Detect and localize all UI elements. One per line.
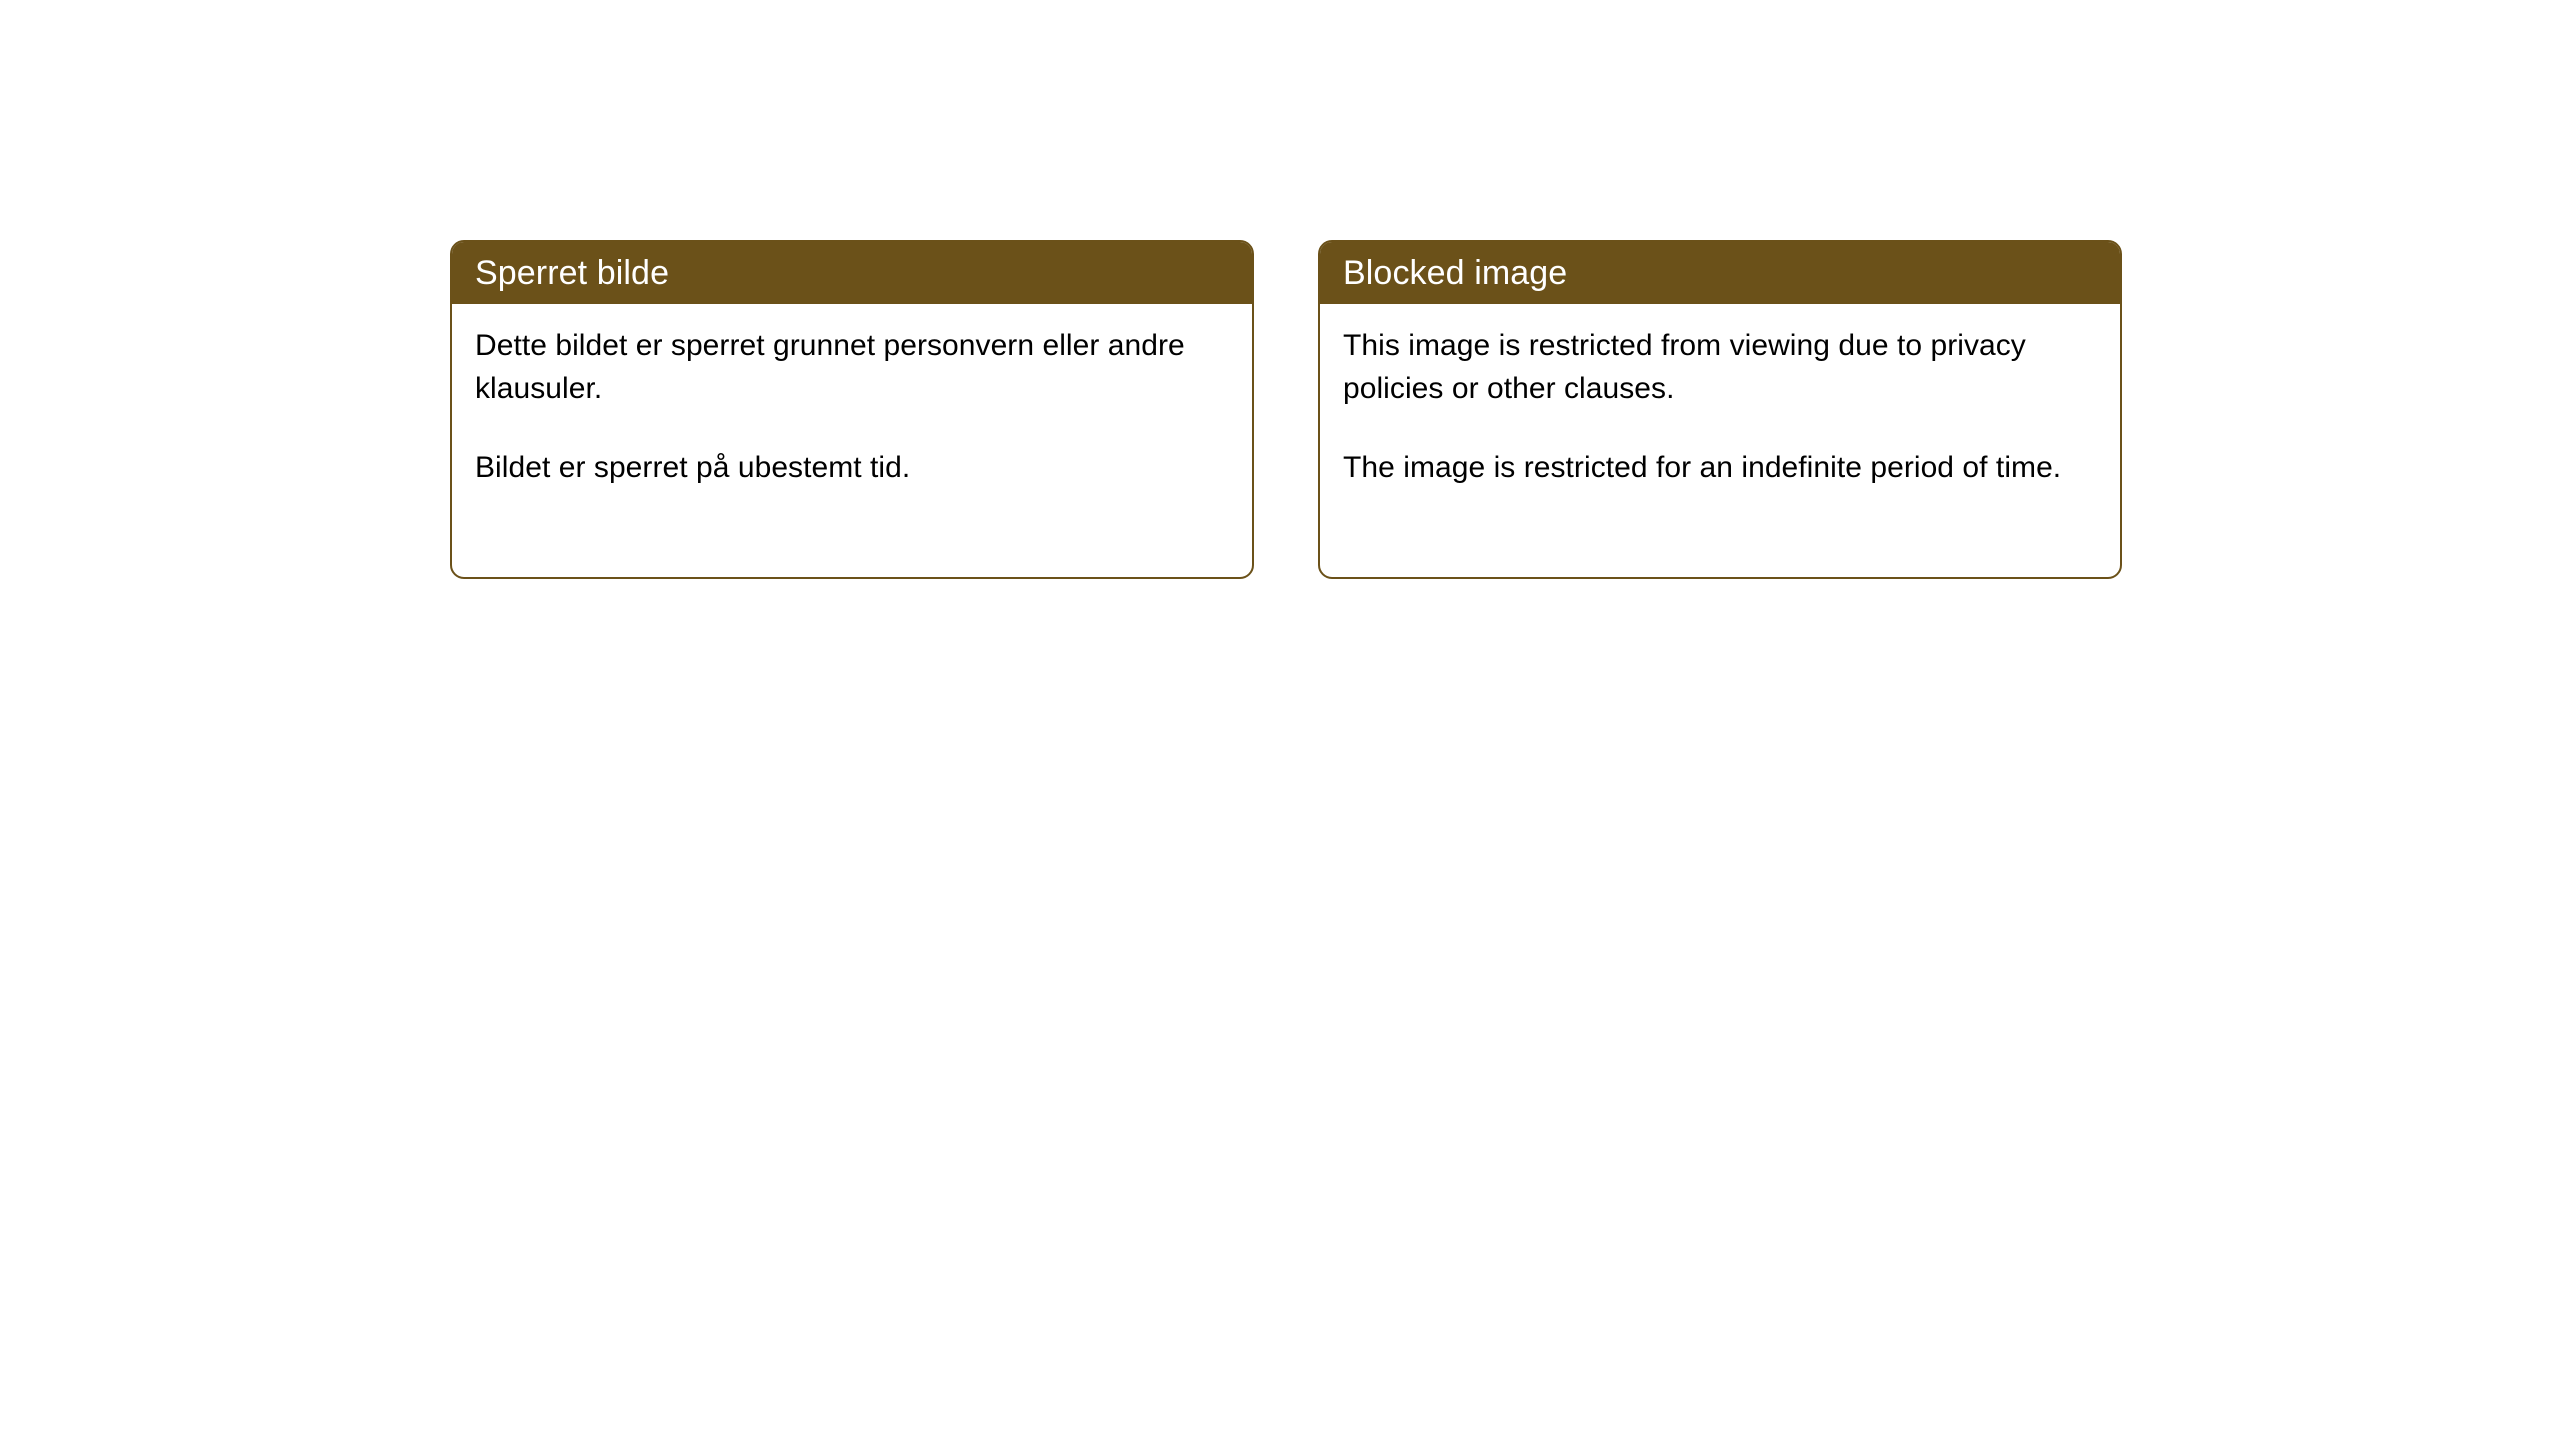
notice-paragraph-reason-english: This image is restricted from viewing du… (1343, 324, 2098, 410)
notice-header-english: Blocked image (1320, 242, 2120, 304)
notice-paragraph-duration-norwegian: Bildet er sperret på ubestemt tid. (475, 446, 1230, 489)
notice-header-norwegian: Sperret bilde (452, 242, 1252, 304)
notice-body-norwegian: Dette bildet er sperret grunnet personve… (452, 304, 1252, 489)
notice-paragraph-duration-english: The image is restricted for an indefinit… (1343, 446, 2098, 489)
notice-title-english: Blocked image (1343, 253, 1567, 293)
notice-paragraph-reason-norwegian: Dette bildet er sperret grunnet personve… (475, 324, 1230, 410)
notice-title-norwegian: Sperret bilde (475, 253, 669, 293)
notice-body-english: This image is restricted from viewing du… (1320, 304, 2120, 489)
page-root: Sperret bilde Dette bildet er sperret gr… (0, 0, 2560, 1440)
blocked-image-notice-english: Blocked image This image is restricted f… (1318, 240, 2122, 579)
blocked-image-notice-norwegian: Sperret bilde Dette bildet er sperret gr… (450, 240, 1254, 579)
